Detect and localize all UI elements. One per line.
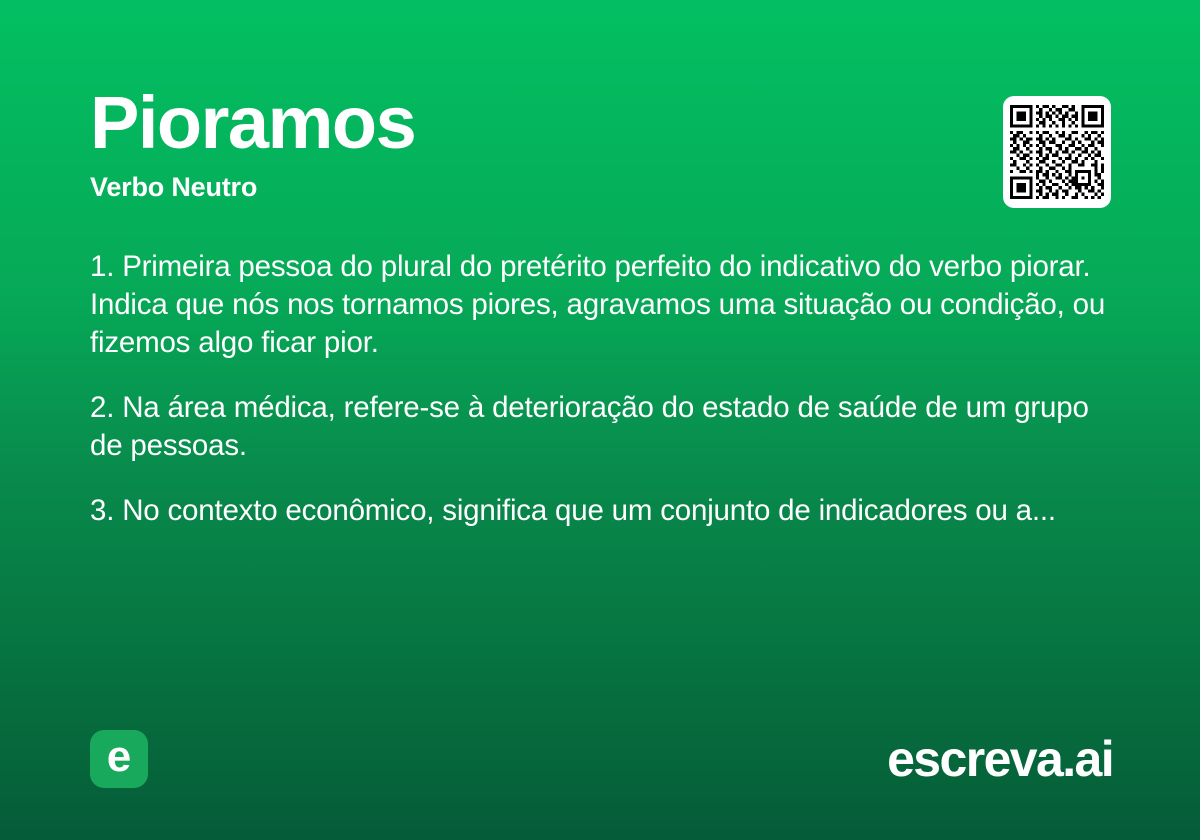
card-header: Pioramos Verbo Neutro — [90, 86, 970, 203]
qr-code-icon[interactable] — [1003, 96, 1111, 208]
definitions-list: 1. Primeira pessoa do plural do pretérit… — [90, 248, 1110, 530]
escreva-logo-icon[interactable]: e — [90, 730, 148, 788]
brand-wordmark: escreva.ai — [887, 730, 1113, 788]
qr-code-svg — [1010, 105, 1104, 199]
definition-item: 1. Primeira pessoa do plural do pretérit… — [90, 248, 1110, 362]
page-title: Pioramos — [90, 86, 970, 160]
card-footer: e escreva.ai — [0, 730, 1200, 790]
dictionary-card: Pioramos Verbo Neutro — [0, 0, 1200, 840]
definition-item: 3. No contexto econômico, significa que … — [90, 492, 1110, 530]
definition-item: 2. Na área médica, refere-se à deteriora… — [90, 389, 1110, 465]
word-class-subtitle: Verbo Neutro — [90, 172, 970, 203]
logo-letter: e — [107, 735, 131, 779]
